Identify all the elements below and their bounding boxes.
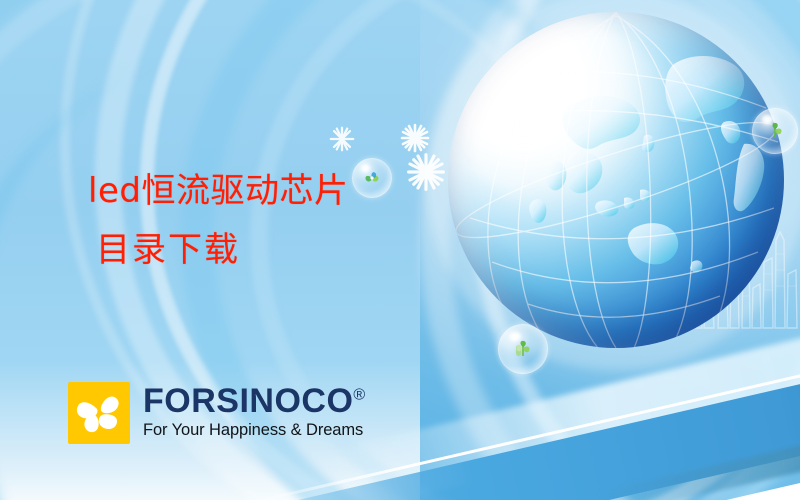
globe-rim-shading (448, 12, 784, 348)
headline-line-2: 目录下载 (96, 222, 240, 278)
logo-text-block: FORSINOCO® For Your Happiness & Dreams (143, 382, 366, 440)
logo-company-name: FORSINOCO® (143, 383, 366, 419)
promotional-banner: led恒流驱动芯片 目录下载 FORSINOCO® For Your Happi… (0, 0, 800, 500)
logo-company-name-text: FORSINOCO (143, 382, 353, 420)
colorful-pinwheel-icon (362, 168, 382, 188)
registered-trademark-symbol: ® (353, 387, 365, 404)
decorative-bubble-pinwheel (352, 158, 392, 198)
green-leaf-icon (764, 120, 786, 142)
four-petal-pinwheel-icon (68, 382, 130, 444)
company-logo: FORSINOCO® For Your Happiness & Dreams (68, 382, 366, 444)
logo-tagline: For Your Happiness & Dreams (143, 420, 366, 440)
decorative-bubble-leaf (752, 108, 798, 154)
decorative-bubble-sprout (498, 324, 548, 374)
earth-globe (448, 12, 784, 348)
globe-sphere (448, 12, 784, 348)
green-sprout-icon (510, 336, 536, 362)
headline-line-1: led恒流驱动芯片 (88, 163, 348, 219)
logo-mark (68, 382, 130, 444)
